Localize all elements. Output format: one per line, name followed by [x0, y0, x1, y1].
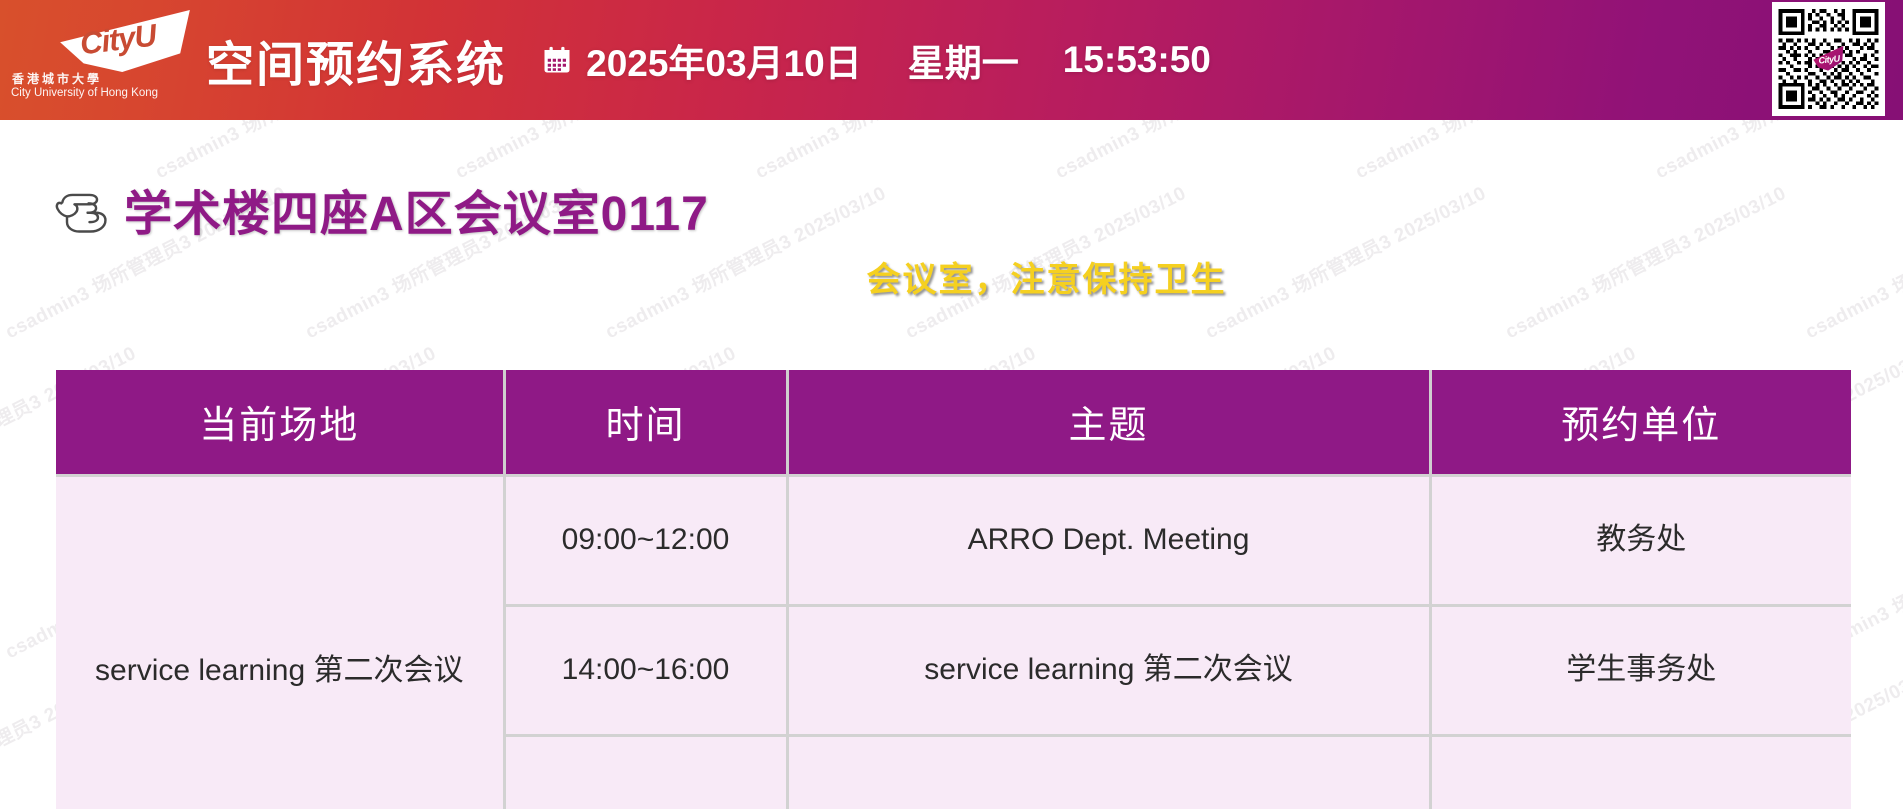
cell-time: 14:00~16:00	[504, 605, 787, 735]
app-title: 空间预约系统	[206, 25, 506, 95]
page-heading-area: 学术楼四座A区会议室0117 会议室，注意保持卫生	[0, 120, 1903, 320]
cell-subject: ARRO Dept. Meeting	[787, 475, 1430, 605]
cell-current-venue: service learning 第二次会议	[56, 475, 504, 809]
qr-code[interactable]: CityU	[1772, 2, 1885, 116]
cell-subject: service learning 第二次会议	[787, 605, 1430, 735]
space-booking-display: CityU 香港城市大學 City University of Hong Kon…	[0, 0, 1903, 809]
current-date: 2025年03月10日	[586, 33, 862, 87]
column-header-subject: 主题	[787, 370, 1430, 475]
table-row[interactable]: service learning 第二次会议 09:00~12:00 ARRO …	[56, 475, 1851, 605]
current-weekday: 星期一	[908, 33, 1019, 87]
schedule-table: 当前场地 时间 主题 预约单位 service learning 第二次会议 0…	[56, 370, 1851, 809]
pointing-hand-icon	[52, 183, 112, 235]
notice-banner: 会议室，注意保持卫生	[0, 252, 1903, 301]
calendar-icon	[542, 44, 572, 76]
cell-time: 09:00~12:00	[504, 475, 787, 605]
cell-time	[504, 735, 787, 809]
cityu-logo: CityU 香港城市大學 City University of Hong Kon…	[8, 8, 198, 112]
app-header: CityU 香港城市大學 City University of Hong Kon…	[0, 0, 1903, 120]
page-title: 学术楼四座A区会议室0117	[52, 174, 709, 244]
notice-text: 会议室，注意保持卫生	[867, 261, 1227, 299]
university-name-cn: 香港城市大學	[12, 70, 102, 87]
table-header-row: 当前场地 时间 主题 预约单位	[56, 370, 1851, 475]
schedule-table-wrapper: 当前场地 时间 主题 预约单位 service learning 第二次会议 0…	[56, 370, 1851, 809]
current-time: 15:53:50	[1063, 39, 1211, 81]
cell-unit	[1430, 735, 1851, 809]
column-header-unit: 预约单位	[1430, 370, 1851, 475]
cell-unit: 教务处	[1430, 475, 1851, 605]
cell-unit: 学生事务处	[1430, 605, 1851, 735]
cell-subject	[787, 735, 1430, 809]
university-name-en: City University of Hong Kong	[11, 87, 158, 99]
room-name: 学术楼四座A区会议室0117	[124, 174, 709, 244]
column-header-venue: 当前场地	[56, 370, 504, 475]
column-header-time: 时间	[504, 370, 787, 475]
